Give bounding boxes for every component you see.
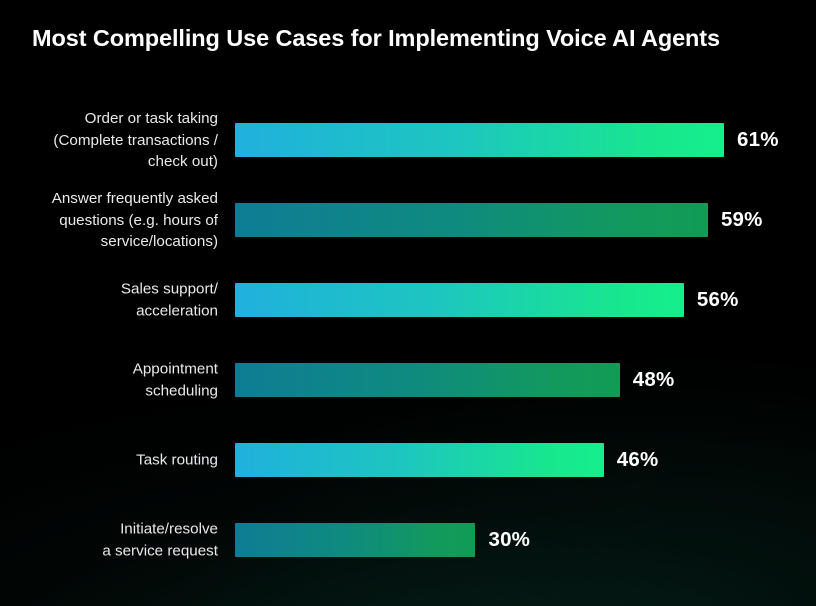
category-label: Appointment scheduling xyxy=(0,359,218,402)
bar-row: Initiate/resolve a service request 30% xyxy=(0,500,816,580)
chart-title: Most Compelling Use Cases for Implementi… xyxy=(32,24,792,53)
bar-row: Appointment scheduling 48% xyxy=(0,340,816,420)
bar-value-label: 46% xyxy=(617,448,659,472)
bar-track: 61% xyxy=(235,123,795,157)
bar-fill xyxy=(235,523,475,557)
bar-chart: Most Compelling Use Cases for Implementi… xyxy=(0,0,816,606)
bar-track: 48% xyxy=(235,363,795,397)
bar-value-label: 61% xyxy=(737,128,779,152)
plot-area: Order or task taking (Complete transacti… xyxy=(0,100,816,580)
bar-value-label: 56% xyxy=(697,288,739,312)
category-label: Answer frequently asked questions (e.g. … xyxy=(0,188,218,253)
bar-track: 46% xyxy=(235,443,795,477)
bar-fill xyxy=(235,443,604,477)
bar-row: Sales support/ acceleration 56% xyxy=(0,260,816,340)
bar-track: 56% xyxy=(235,283,795,317)
bar-value-label: 30% xyxy=(488,528,530,552)
bar-fill xyxy=(235,203,708,237)
category-label: Order or task taking (Complete transacti… xyxy=(0,108,218,173)
bar-fill xyxy=(235,363,620,397)
bar-fill xyxy=(235,283,684,317)
category-label: Sales support/ acceleration xyxy=(0,279,218,322)
bar-row: Order or task taking (Complete transacti… xyxy=(0,100,816,180)
bar-track: 59% xyxy=(235,203,795,237)
bar-fill xyxy=(235,123,724,157)
category-label: Initiate/resolve a service request xyxy=(0,519,218,562)
bar-value-label: 48% xyxy=(633,368,675,392)
bar-value-label: 59% xyxy=(721,208,763,232)
bar-track: 30% xyxy=(235,523,795,557)
bar-row: Answer frequently asked questions (e.g. … xyxy=(0,180,816,260)
category-label: Task routing xyxy=(0,449,218,471)
bar-row: Task routing 46% xyxy=(0,420,816,500)
